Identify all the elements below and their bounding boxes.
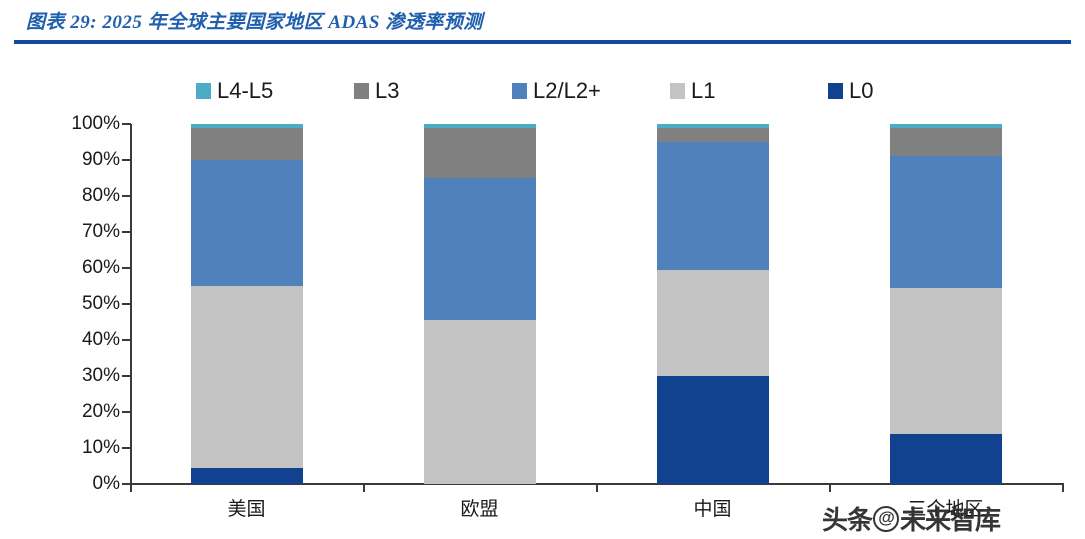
legend-swatch-icon (670, 83, 685, 99)
y-axis-tick-label: 100% (71, 113, 120, 135)
y-axis-tick-label: 90% (82, 149, 120, 171)
x-axis-tick-mark (363, 483, 365, 492)
bar-group (191, 124, 303, 484)
bar-segment-l3[interactable] (424, 128, 536, 178)
page-title: 图表 29: 2025 年全球主要国家地区 ADAS 渗透率预测 (26, 7, 483, 34)
x-axis-tick-mark (130, 483, 132, 492)
bar-segment-l3[interactable] (191, 128, 303, 160)
bar-stack (657, 124, 769, 484)
x-axis-category-label: 欧盟 (460, 494, 498, 521)
bar-segment-l4-l5[interactable] (191, 124, 303, 128)
y-axis-tick-mark (122, 447, 131, 449)
y-axis-tick-mark (122, 231, 131, 233)
legend-label: L2/L2+ (533, 80, 601, 102)
x-axis-tick-mark (1062, 483, 1064, 492)
bar-segment-l2-l2[interactable] (657, 142, 769, 270)
legend-swatch-icon (354, 83, 369, 99)
y-axis-tick-labels: 0%10%20%30%40%50%60%70%80%90%100% (44, 124, 120, 484)
y-axis-tick-label: 30% (82, 365, 120, 387)
watermark-at-icon: @ (873, 506, 899, 532)
bar-segment-l2-l2[interactable] (191, 160, 303, 286)
y-axis-tick-mark (122, 159, 131, 161)
watermark: 头条@未来智库 (822, 500, 1000, 537)
legend-item-l4-l5[interactable]: L4-L5 (196, 80, 354, 102)
legend-swatch-icon (828, 83, 843, 99)
y-axis-tick-label: 70% (82, 221, 120, 243)
bar-segment-l1[interactable] (424, 320, 536, 484)
bar-group (657, 124, 769, 484)
legend-item-l2-l2[interactable]: L2/L2+ (512, 80, 670, 102)
legend-label: L1 (691, 80, 715, 102)
chart-header: 图表 29: 2025 年全球主要国家地区 ADAS 渗透率预测 (0, 0, 1085, 46)
y-axis-tick-mark (122, 411, 131, 413)
y-axis-tick-mark (122, 123, 131, 125)
bars-layer (130, 124, 1062, 484)
bar-segment-l0[interactable] (191, 468, 303, 484)
bar-segment-l3[interactable] (890, 128, 1002, 157)
watermark-suffix: 未来智库 (900, 500, 1000, 537)
watermark-prefix: 头条 (822, 500, 872, 537)
y-axis-tick-label: 60% (82, 257, 120, 279)
bar-stack (424, 124, 536, 484)
bar-segment-l1[interactable] (890, 288, 1002, 434)
legend-label: L3 (375, 80, 399, 102)
y-axis-tick-label: 50% (82, 293, 120, 315)
bar-group (424, 124, 536, 484)
title-divider (14, 40, 1071, 44)
y-axis-tick-mark (122, 339, 131, 341)
y-axis-tick-label: 80% (82, 185, 120, 207)
legend-label: L0 (849, 80, 873, 102)
bar-segment-l0[interactable] (890, 434, 1002, 484)
x-axis-tick-mark (596, 483, 598, 492)
bar-group (890, 124, 1002, 484)
legend-swatch-icon (196, 83, 211, 99)
legend-item-l1[interactable]: L1 (670, 80, 828, 102)
legend-swatch-icon (512, 83, 527, 99)
bar-stack (191, 124, 303, 484)
y-axis-tick-label: 0% (93, 473, 120, 495)
x-axis-category-label: 中国 (693, 494, 731, 521)
x-axis-tick-mark (829, 483, 831, 492)
bar-segment-l3[interactable] (657, 128, 769, 142)
y-axis-tick-mark (122, 267, 131, 269)
bar-segment-l2-l2[interactable] (890, 156, 1002, 287)
legend-item-l3[interactable]: L3 (354, 80, 512, 102)
bar-segment-l4-l5[interactable] (657, 124, 769, 128)
x-axis-category-label: 美国 (227, 494, 265, 521)
bar-stack (890, 124, 1002, 484)
y-axis-tick-label: 10% (82, 437, 120, 459)
legend-item-l0[interactable]: L0 (828, 80, 986, 102)
bar-segment-l2-l2[interactable] (424, 178, 536, 320)
y-axis-tick-label: 20% (82, 401, 120, 423)
y-axis-tick-mark (122, 303, 131, 305)
y-axis-tick-label: 40% (82, 329, 120, 351)
legend-label: L4-L5 (217, 80, 273, 102)
bar-segment-l4-l5[interactable] (424, 124, 536, 128)
bar-segment-l1[interactable] (657, 270, 769, 376)
chart-plot-area: 0%10%20%30%40%50%60%70%80%90%100% 美国欧盟中国… (0, 112, 1085, 539)
y-axis-tick-mark (122, 195, 131, 197)
bar-segment-l1[interactable] (191, 286, 303, 468)
bar-segment-l4-l5[interactable] (890, 124, 1002, 128)
y-axis-tick-mark (122, 375, 131, 377)
chart-legend: L4-L5L3L2/L2+L1L0 (196, 76, 986, 106)
bar-segment-l0[interactable] (657, 376, 769, 484)
